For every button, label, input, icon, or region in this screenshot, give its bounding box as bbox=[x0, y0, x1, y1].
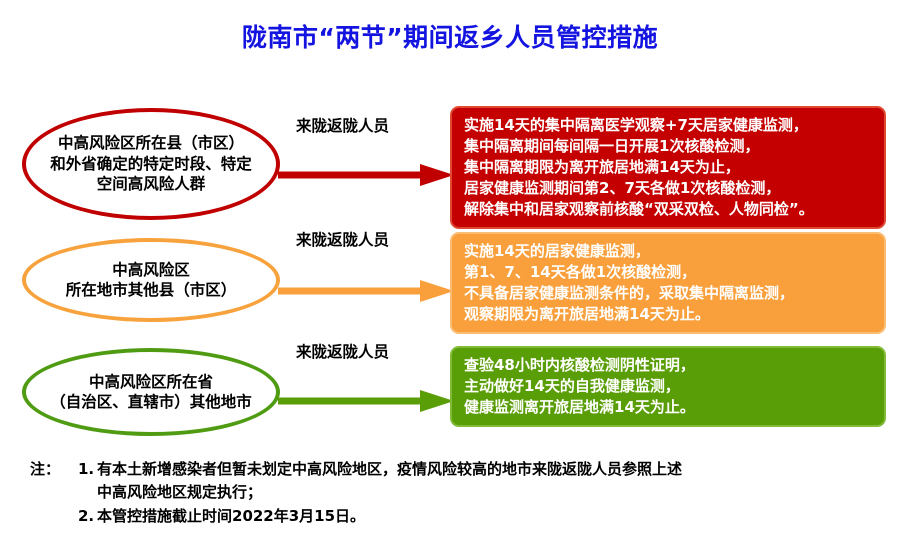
measure-line: 集中隔离期限为离开旅居地满14天为止， bbox=[464, 157, 874, 178]
measure-line: 第1、7、14天各做1次核酸检测， bbox=[464, 262, 874, 283]
footnote-text: 本管控措施截止时间2022年3月15日。 bbox=[97, 505, 890, 528]
page-title: 陇南市“两节”期间返乡人员管控措施 bbox=[0, 18, 900, 54]
footnote-number: 1. bbox=[78, 458, 97, 481]
measure-row-orange: 中高风险区 所在地市其他县（市区） 来陇返陇人员 实施14天的居家健康监测， 第… bbox=[0, 228, 900, 328]
arrow-label-red: 来陇返陇人员 bbox=[296, 114, 446, 136]
category-oval-red: 中高风险区所在县（市区） 和外省确定的特定时段、特定 空间高风险人群 bbox=[22, 108, 280, 220]
arrow-right-icon bbox=[278, 278, 454, 304]
measure-line: 居家健康监测期间第2、7天各做1次核酸检测， bbox=[464, 178, 874, 199]
footnote-text: 有本土新增感染者但暂未划定中高风险地区，疫情风险较高的地市来陇返陇人员参照上述 bbox=[97, 458, 890, 481]
category-line: 中高风险区所在省 bbox=[50, 372, 252, 392]
category-oval-orange: 中高风险区 所在地市其他县（市区） bbox=[22, 238, 280, 322]
footnote-item-1: 1. 有本土新增感染者但暂未划定中高风险地区，疫情风险较高的地市来陇返陇人员参照… bbox=[78, 458, 890, 481]
measure-box-red: 实施14天的集中隔离医学观察+7天居家健康监测， 集中隔离期间每间隔一日开展1次… bbox=[450, 106, 886, 229]
footnote-number: 2. bbox=[78, 505, 97, 528]
measure-line: 集中隔离期间每间隔一日开展1次核酸检测， bbox=[464, 136, 874, 157]
measure-line: 健康监测离开旅居地满14天为止。 bbox=[464, 397, 874, 418]
category-line: 和外省确定的特定时段、特定 bbox=[50, 154, 252, 174]
footnote-text: 中高风险地区规定执行； bbox=[78, 481, 890, 504]
category-oval-green-text: 中高风险区所在省 （自治区、直辖市）其他地市 bbox=[36, 372, 266, 413]
measure-box-orange: 实施14天的居家健康监测， 第1、7、14天各做1次核酸检测， 不具备居家健康监… bbox=[450, 232, 886, 334]
measure-line: 实施14天的居家健康监测， bbox=[464, 241, 874, 262]
category-oval-red-text: 中高风险区所在县（市区） 和外省确定的特定时段、特定 空间高风险人群 bbox=[36, 133, 266, 194]
category-line: 空间高风险人群 bbox=[50, 174, 252, 194]
arrow-right-icon bbox=[278, 162, 454, 188]
measure-row-red: 中高风险区所在县（市区） 和外省确定的特定时段、特定 空间高风险人群 来陇返陇人… bbox=[0, 100, 900, 220]
measure-line: 解除集中和居家观察前核酸“双采双检、人物同检”。 bbox=[464, 199, 874, 220]
category-line: 中高风险区 bbox=[66, 260, 237, 280]
category-oval-orange-text: 中高风险区 所在地市其他县（市区） bbox=[52, 260, 251, 301]
measure-line: 观察期限为离开旅居地满14天为止。 bbox=[464, 304, 874, 325]
arrow-label-green: 来陇返陇人员 bbox=[296, 340, 446, 362]
arrow-right-icon bbox=[278, 388, 454, 414]
measure-line: 不具备居家健康监测条件的，采取集中隔离监测， bbox=[464, 283, 874, 304]
category-line: 中高风险区所在县（市区） bbox=[50, 133, 252, 153]
measure-line: 查验48小时内核酸检测阴性证明， bbox=[464, 355, 874, 376]
arrow-label-orange: 来陇返陇人员 bbox=[296, 228, 446, 250]
measure-line: 实施14天的集中隔离医学观察+7天居家健康监测， bbox=[464, 115, 874, 136]
measure-line: 主动做好14天的自我健康监测， bbox=[464, 376, 874, 397]
category-oval-green: 中高风险区所在省 （自治区、直辖市）其他地市 bbox=[22, 348, 280, 436]
category-line: 所在地市其他县（市区） bbox=[66, 280, 237, 300]
measure-box-green: 查验48小时内核酸检测阴性证明， 主动做好14天的自我健康监测， 健康监测离开旅… bbox=[450, 346, 886, 427]
footnote-label: 注： bbox=[30, 458, 78, 481]
measure-row-green: 中高风险区所在省 （自治区、直辖市）其他地市 来陇返陇人员 查验48小时内核酸检… bbox=[0, 340, 900, 440]
footnote-item-2: 2. 本管控措施截止时间2022年3月15日。 bbox=[78, 505, 890, 528]
footnote: 注： 1. 有本土新增感染者但暂未划定中高风险地区，疫情风险较高的地市来陇返陇人… bbox=[30, 458, 890, 528]
category-line: （自治区、直辖市）其他地市 bbox=[50, 392, 252, 412]
footnote-item-1-continued: 中高风险地区规定执行； bbox=[30, 481, 890, 504]
